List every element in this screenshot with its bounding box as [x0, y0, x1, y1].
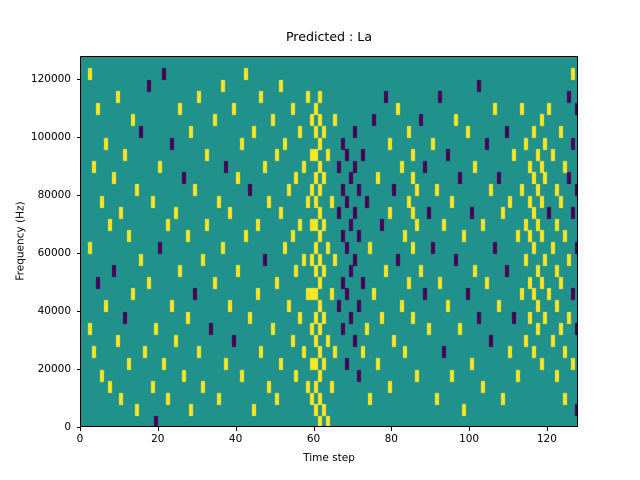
y-ticklabel-60000: 60000 — [0, 247, 71, 259]
x-tick-120 — [547, 427, 548, 431]
y-tick-120000 — [77, 79, 81, 80]
x-ticklabel-100: 100 — [439, 433, 499, 445]
y-ticklabel-20000: 20000 — [0, 363, 71, 375]
x-ticklabel-0: 0 — [50, 433, 110, 445]
x-ticklabel-60: 60 — [284, 433, 344, 445]
y-axis-label: Frequency (Hz) — [15, 56, 27, 427]
x-tick-80 — [391, 427, 392, 431]
heatmap-image[interactable] — [81, 57, 578, 427]
y-tick-60000 — [77, 253, 81, 254]
y-ticklabel-0: 0 — [0, 421, 71, 433]
x-ticklabel-80: 80 — [361, 433, 421, 445]
x-tick-40 — [236, 427, 237, 431]
x-tick-20 — [158, 427, 159, 431]
y-ticklabel-120000: 120000 — [0, 73, 71, 85]
heatmap-plot-area[interactable] — [80, 56, 578, 427]
matplotlib-figure: Predicted : La 0 20 40 60 80 100 120 0 2… — [0, 0, 640, 480]
y-ticklabel-40000: 40000 — [0, 305, 71, 317]
y-tick-80000 — [77, 195, 81, 196]
y-ticklabel-100000: 100000 — [0, 131, 71, 143]
x-ticklabel-120: 120 — [517, 433, 577, 445]
y-tick-20000 — [77, 369, 81, 370]
x-ticklabel-20: 20 — [128, 433, 188, 445]
y-tick-40000 — [77, 311, 81, 312]
x-ticklabel-40: 40 — [206, 433, 266, 445]
x-tick-0 — [80, 427, 81, 431]
y-ticklabel-80000: 80000 — [0, 189, 71, 201]
x-tick-60 — [314, 427, 315, 431]
x-axis-label: Time step — [80, 452, 578, 464]
y-tick-0 — [77, 427, 81, 428]
y-tick-100000 — [77, 137, 81, 138]
x-tick-100 — [469, 427, 470, 431]
page-title: Predicted : La — [80, 30, 578, 44]
